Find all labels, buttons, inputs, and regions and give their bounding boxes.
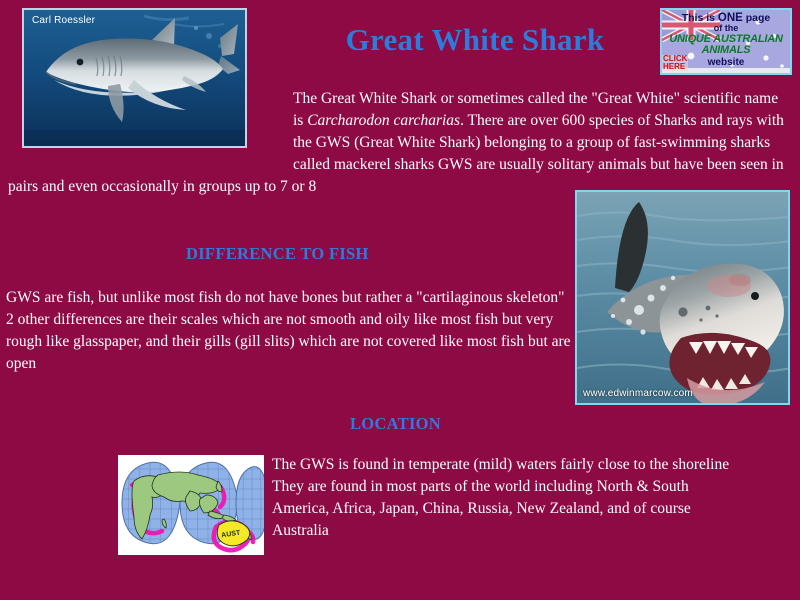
click-here-line-2: HERE [663,63,687,71]
section-heading-location: LOCATION [350,414,441,434]
section-heading-difference-to-fish: DIFFERENCE TO FISH [186,244,369,264]
unique-australian-animals-banner[interactable]: This is ONE page of the UNIQUE AUSTRALIA… [660,8,792,75]
world-map-illustration: AUST [118,455,264,555]
click-here-button[interactable]: CLICK HERE [662,55,688,71]
photo-watermark-label: www.edwinmarcow.com [583,388,693,399]
shark-photo-breaching: www.edwinmarcow.com [575,190,790,405]
photo-credit-label: Carl Roessler [32,15,95,26]
page-title: Great White Shark [300,22,650,58]
page-root: Carl Roessler [0,0,800,600]
scientific-name: Carcharodon carcharias [307,112,460,129]
world-distribution-map: AUST [118,455,264,555]
shark-breaching-illustration [577,192,790,405]
intro-paragraph: The Great White Shark or sometimes calle… [8,88,792,198]
intro-float-spacer [8,88,293,168]
difference-to-fish-paragraph: GWS are fish, but unlike most fish do no… [6,287,576,375]
location-paragraph: The GWS is found in temperate (mild) wat… [272,454,747,542]
